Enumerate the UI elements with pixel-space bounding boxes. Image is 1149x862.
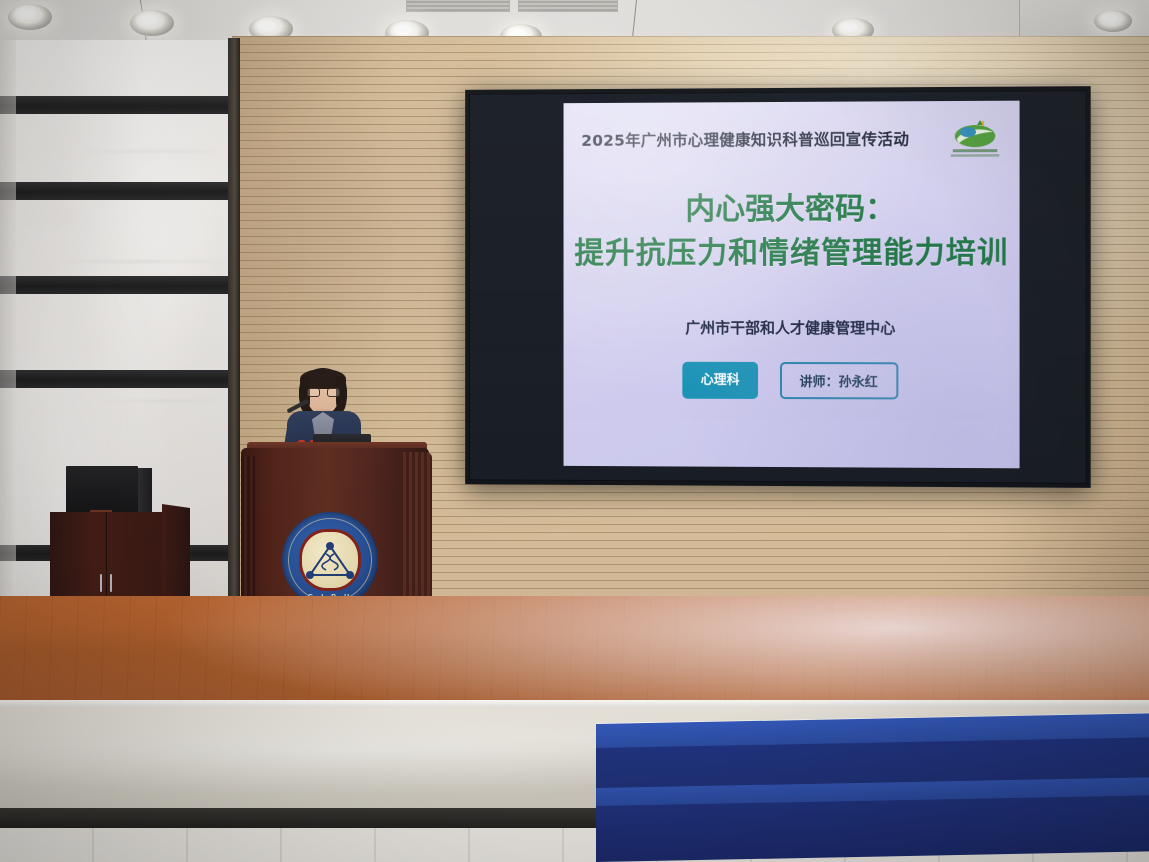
slide-organization-subtitle: 广州市干部和人才健康管理中心 bbox=[564, 317, 1020, 339]
step-riser-2 bbox=[596, 795, 1149, 862]
presentation-slide: 2025年广州市心理健康知识科普巡回宣传活动 内心强大密码： 提升抗压力和情绪管… bbox=[564, 101, 1020, 469]
presenter-glasses bbox=[307, 388, 340, 397]
downlight-7 bbox=[1094, 10, 1132, 32]
loudspeaker bbox=[66, 466, 138, 518]
loudspeaker-side bbox=[138, 468, 152, 518]
lecture-hall-photo: 2025年广州市心理健康知识科普巡回宣传活动 内心强大密码： 提升抗压力和情绪管… bbox=[0, 0, 1149, 862]
slide-tag-lecturer: 讲师：孙永红 bbox=[779, 362, 897, 399]
wall-corner-shadow bbox=[228, 38, 240, 658]
av-cabinet-handle-left[interactable] bbox=[100, 574, 102, 592]
slide-main-title: 内心强大密码： 提升抗压力和情绪管理能力培训 bbox=[564, 187, 1020, 276]
emblem-triangle-dna bbox=[306, 542, 354, 580]
marble-wall-edge bbox=[0, 40, 16, 658]
wall-band-2 bbox=[0, 182, 228, 200]
wall-band-1 bbox=[0, 96, 228, 114]
slide-title-line-1: 内心强大密码： bbox=[564, 187, 1020, 232]
wall-band-3 bbox=[0, 276, 228, 294]
blue-carpeted-steps bbox=[596, 718, 1149, 862]
downlight-2 bbox=[130, 10, 174, 36]
health-center-leaf-logo bbox=[947, 119, 1004, 161]
av-cabinet-handle-right[interactable] bbox=[110, 574, 112, 592]
downlight-1 bbox=[8, 4, 52, 30]
projection-screen: 2025年广州市心理健康知识科普巡回宣传活动 内心强大密码： 提升抗压力和情绪管… bbox=[465, 86, 1091, 488]
wall-band-4 bbox=[0, 370, 228, 388]
ac-vent-right bbox=[518, 0, 618, 12]
ac-vent-left bbox=[406, 0, 510, 12]
slide-header-banner: 2025年广州市心理健康知识科普巡回宣传活动 bbox=[581, 127, 920, 150]
slide-tag-row: 心理科 讲师：孙永红 bbox=[564, 362, 1020, 400]
slide-title-line-2: 提升抗压力和情绪管理能力培训 bbox=[564, 232, 1020, 276]
slide-tag-department: 心理科 bbox=[683, 362, 758, 399]
gibh-institute-emblem: G I B H bbox=[282, 512, 378, 608]
